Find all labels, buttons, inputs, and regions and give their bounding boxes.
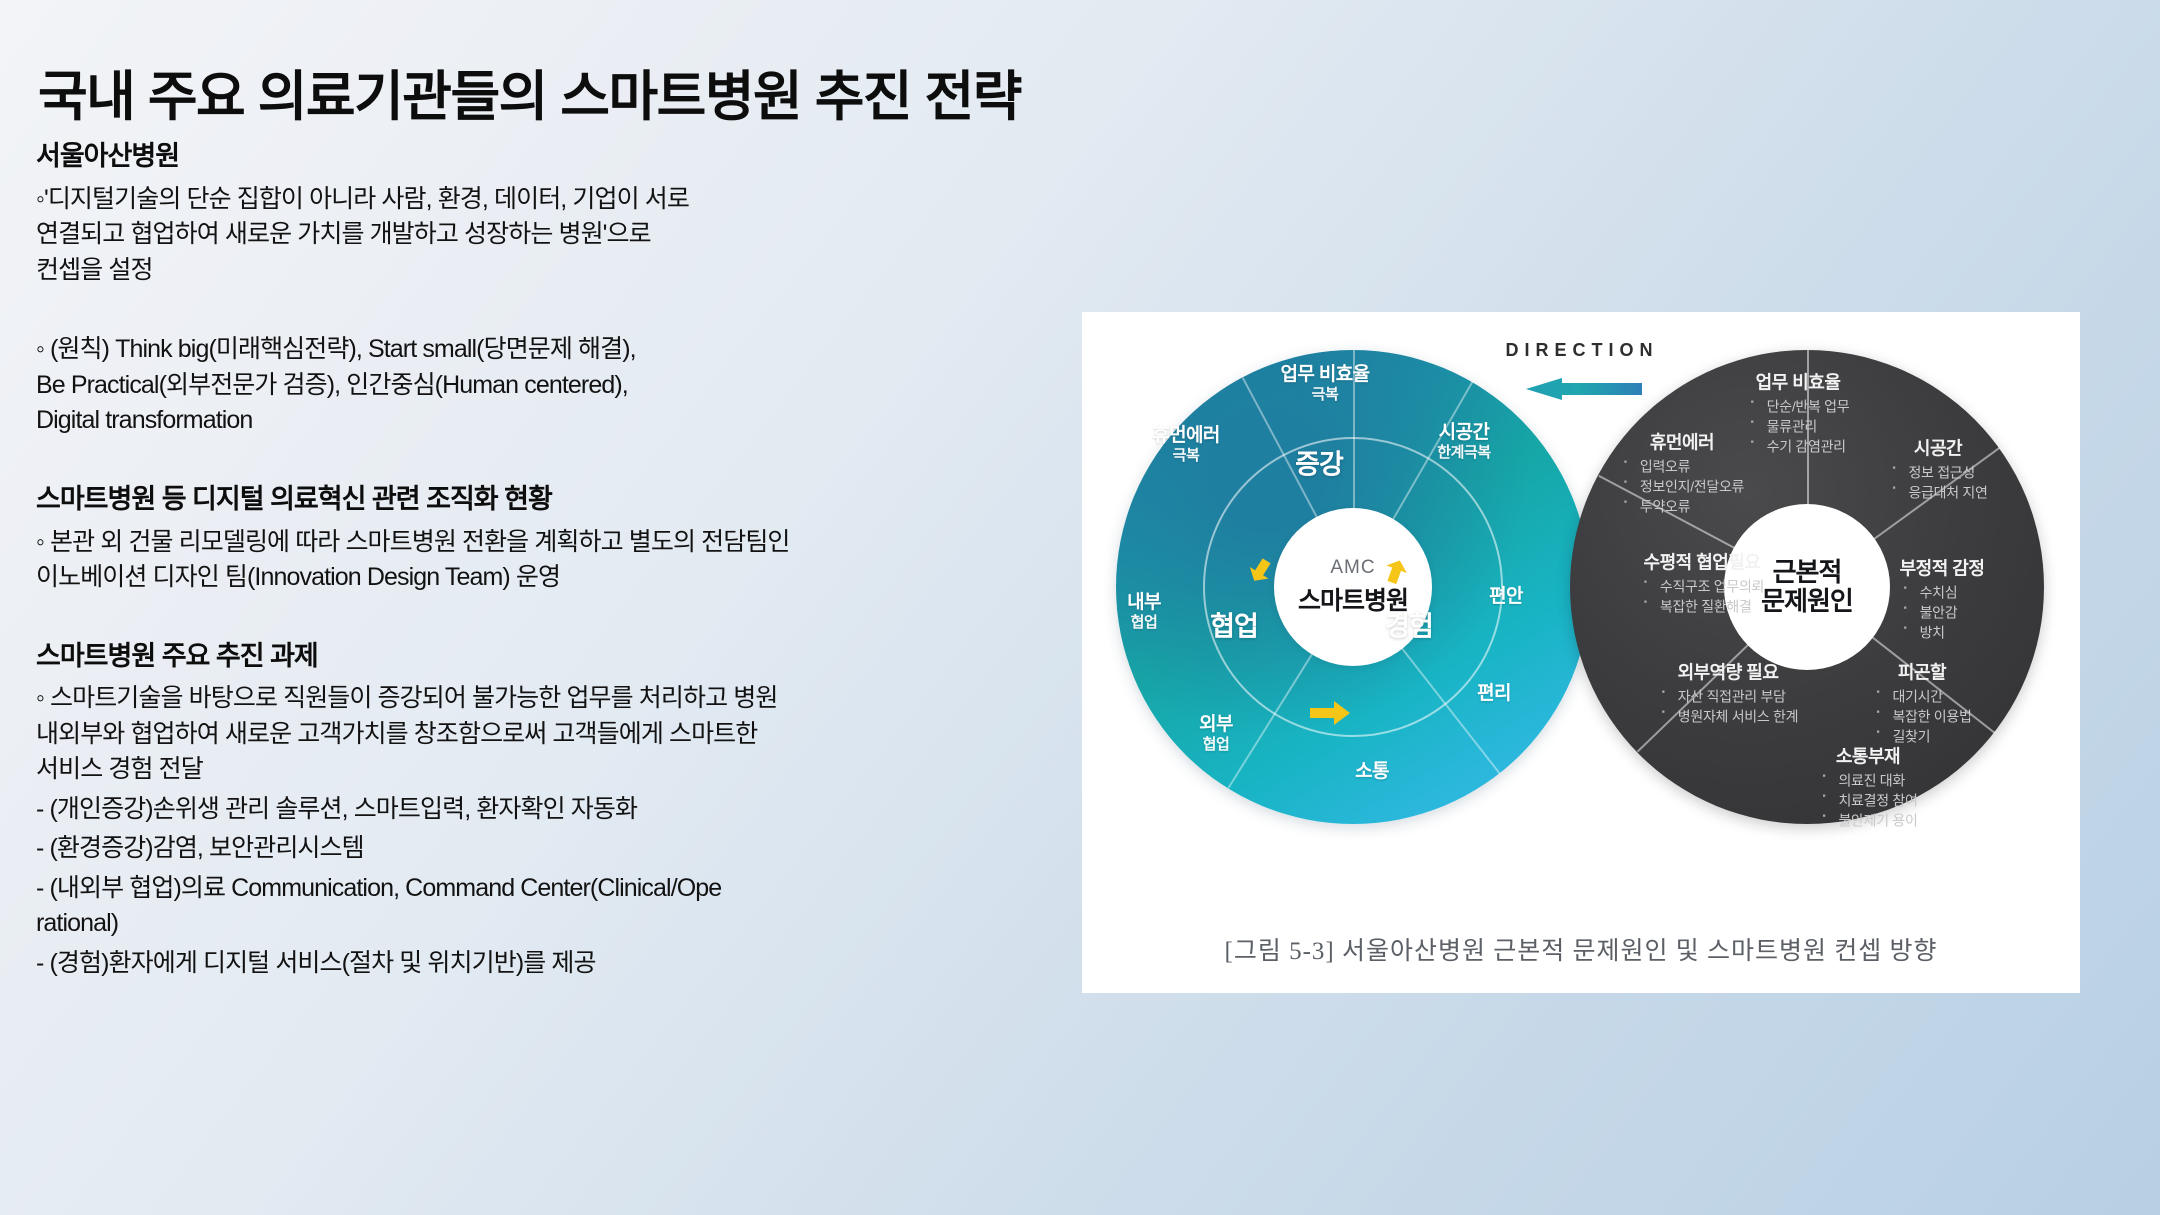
- rootcause-line2: 문제원인: [1761, 587, 1853, 616]
- content-column: 서울아산병원 ◦'디지털기술의 단순 집합이 아니라 사람, 환경, 데이터, …: [36, 140, 1066, 991]
- cause-item: 병원자체 서비스 한계: [1658, 706, 1798, 726]
- cause-item: 응급대처 지연: [1888, 482, 1987, 502]
- rotation-arrow-right-icon: [1378, 554, 1412, 588]
- cause-item: 입력오류: [1620, 456, 1744, 476]
- cause-item: 길찾기: [1872, 726, 1971, 746]
- organization-heading: 스마트병원 등 디지털 의료혁신 관련 조직화 현황: [36, 483, 1066, 517]
- principles-paragraph: ◦ (원칙) Think big(미래핵심전략), Start small(당면…: [36, 332, 1066, 439]
- section-principles: ◦ (원칙) Think big(미래핵심전략), Start small(당면…: [36, 332, 1066, 439]
- page-title: 국내 주요 의료기관들의 스마트병원 추진 전략: [38, 52, 1021, 131]
- concept-diagram: DIRECTION: [1082, 322, 2080, 922]
- cause-group-time-space: 시공간 정보 접근성 응급대처 지연: [1888, 437, 1987, 502]
- cause-item: 방치: [1900, 622, 1985, 642]
- cause-item: 불안제기 용이: [1818, 810, 1917, 830]
- amc-label: AMC: [1330, 557, 1375, 579]
- inner-label-collaboration: 협업: [1210, 605, 1258, 644]
- cause-item: 정보인지/전달오류: [1620, 476, 1744, 496]
- spacer-1: [36, 298, 1066, 332]
- inner-label-augmentation: 증강: [1295, 443, 1343, 482]
- hospital-name-heading: 서울아산병원: [36, 140, 1066, 174]
- ring-label-communication: 소통: [1355, 761, 1389, 783]
- cause-item: 수직구조 업무의뢰: [1640, 576, 1764, 596]
- cause-group-lack-of-communication: 소통부재 의료진 대화 치료결정 참여 불안제기 용이: [1818, 745, 1917, 830]
- cause-item: 복잡한 질환해결: [1640, 596, 1764, 616]
- slide-root: 국내 주요 의료기관들의 스마트병원 추진 전략 서울아산병원 ◦'디지털기술의…: [0, 0, 2160, 1215]
- tasks-intro-paragraph: ◦ 스마트기술을 바탕으로 직원들이 증강되어 불가능한 업무를 처리하고 병원…: [36, 681, 1066, 788]
- cause-item: 의료진 대화: [1818, 770, 1917, 790]
- section-tasks: 스마트병원 주요 추진 과제 ◦ 스마트기술을 바탕으로 직원들이 증강되어 불…: [36, 640, 1066, 982]
- task-item: - (내외부 협업)의료 Communication, Command Cent…: [36, 871, 1066, 942]
- figure-panel: DIRECTION: [1082, 312, 2080, 993]
- ring-label-comfort: 편안: [1489, 586, 1523, 608]
- figure-caption: [그림 5-3] 서울아산병원 근본적 문제원인 및 스마트병원 컨셉 방향: [1082, 931, 2080, 967]
- section-concept: 서울아산병원 ◦'디지털기술의 단순 집합이 아니라 사람, 환경, 데이터, …: [36, 140, 1066, 288]
- task-item: - (환경증강)감염, 보안관리시스템: [36, 831, 1066, 867]
- cause-item: 자산 직접관리 부담: [1658, 686, 1798, 706]
- cause-group-business-inefficiency: 업무 비효율 단순/반복 업무 물류관리 수기 감염관리: [1747, 371, 1850, 456]
- tasks-heading: 스마트병원 주요 추진 과제: [36, 640, 1066, 674]
- cause-item: 정보 접근성: [1888, 462, 1987, 482]
- cause-group-external-capability: 외부역량 필요 자산 직접관리 부담 병원자체 서비스 한계: [1658, 661, 1798, 726]
- concept-paragraph: ◦'디지털기술의 단순 집합이 아니라 사람, 환경, 데이터, 기업이 서로 …: [36, 182, 1066, 289]
- section-organization: 스마트병원 등 디지털 의료혁신 관련 조직화 현황 ◦ 본관 외 건물 리모델…: [36, 483, 1066, 596]
- cause-item: 복잡한 이용법: [1872, 706, 1971, 726]
- ring-label-internal-collab: 내부 협업: [1127, 592, 1161, 632]
- cause-item: 수기 감염관리: [1747, 436, 1850, 456]
- cause-item: 치료결정 참여: [1818, 790, 1917, 810]
- ring-label-business-inefficiency: 업무 비효율 극복: [1280, 364, 1369, 404]
- cause-item: 대기시간: [1872, 686, 1971, 706]
- organization-paragraph: ◦ 본관 외 건물 리모델링에 따라 스마트병원 전환을 계획하고 별도의 전담…: [36, 525, 1066, 596]
- spacer-3: [36, 606, 1066, 640]
- cause-group-fatigue: 피곤할 대기시간 복잡한 이용법 길찾기: [1872, 661, 1971, 746]
- cause-item: 수치심: [1900, 582, 1985, 602]
- cause-item: 불안감: [1900, 602, 1985, 622]
- cause-item: 투약오류: [1620, 496, 1744, 516]
- direction-label: DIRECTION: [1506, 340, 1659, 361]
- cause-item: 단순/반복 업무: [1747, 396, 1850, 416]
- rootcause-line1: 근본적: [1773, 558, 1842, 587]
- ring-label-external-collab: 외부 협업: [1199, 714, 1233, 754]
- ring-label-time-space: 시공간 한계극복: [1437, 422, 1491, 462]
- direction-arrow-icon: [1526, 378, 1642, 400]
- cause-group-human-error: 휴먼에러 입력오류 정보인지/전달오류 투약오류: [1620, 431, 1744, 516]
- spacer-2: [36, 449, 1066, 483]
- task-item: - (경험)환자에게 디지털 서비스(절차 및 위치기반)를 제공: [36, 946, 1066, 982]
- rotation-arrow-left-icon: [1244, 554, 1278, 588]
- ring-label-convenience: 편리: [1477, 683, 1511, 705]
- ring-label-human-error: 휴먼에러 극복: [1152, 425, 1220, 465]
- cause-group-horizontal-collab: 수평적 협업필요 수직구조 업무의뢰 복잡한 질환해결: [1640, 551, 1764, 616]
- rotation-arrow-bottom-icon: [1310, 700, 1344, 734]
- inner-label-experience: 경험: [1385, 605, 1433, 644]
- cause-item: 물류관리: [1747, 416, 1850, 436]
- cause-group-negative-emotion: 부정적 감정 수치심 불안감 방치: [1900, 557, 1985, 642]
- task-item: - (개인증강)손위생 관리 솔루션, 스마트입력, 환자확인 자동화: [36, 792, 1066, 828]
